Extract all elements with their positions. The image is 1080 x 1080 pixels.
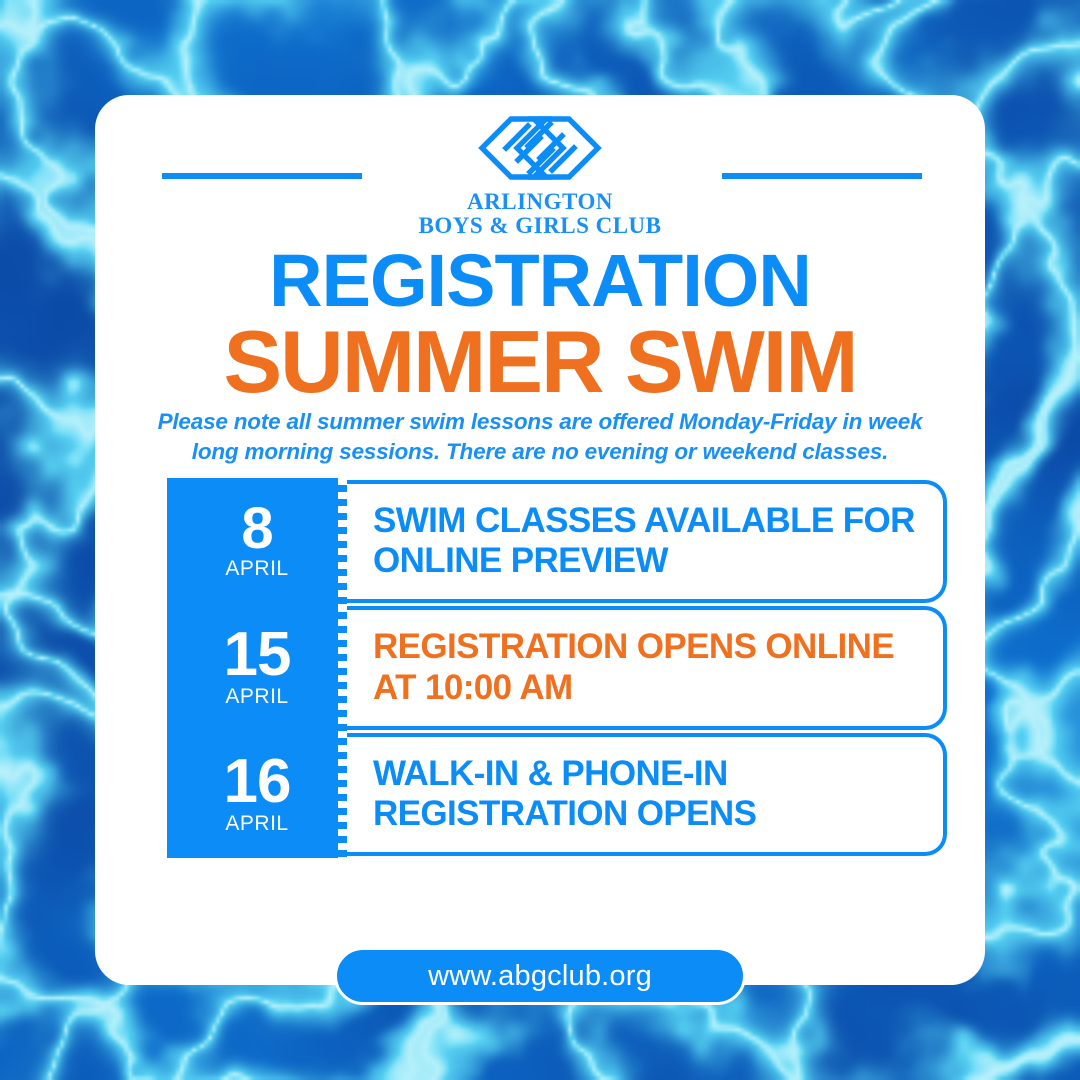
schedule-ticket: REGISTRATION OPENS ONLINE AT 10:00 AM (347, 606, 947, 730)
logo: ARLINGTON BOYS & GIRLS CLUB (0, 112, 1080, 239)
schedule-day-number: 16 (224, 753, 291, 810)
schedule-event-label: WALK-IN & PHONE-IN REGISTRATION OPENS (373, 754, 943, 835)
schedule-date-stub: 15APRIL (167, 605, 347, 732)
schedule-event-label: REGISTRATION OPENS ONLINE AT 10:00 AM (373, 627, 943, 708)
schedule-ticket: SWIM CLASSES AVAILABLE FOR ONLINE PREVIE… (347, 480, 947, 604)
schedule-date-stub: 16APRIL (167, 731, 347, 858)
schedule-date-stub: 8APRIL (167, 478, 347, 605)
schedule-row: 15APRILREGISTRATION OPENS ONLINE AT 10:0… (167, 605, 947, 732)
schedule-event-label: SWIM CLASSES AVAILABLE FOR ONLINE PREVIE… (373, 501, 943, 582)
heading-summer-swim: SUMMER SWIM (0, 318, 1080, 406)
schedule-month-label: APRIL (225, 812, 288, 836)
schedule-row: 8APRILSWIM CLASSES AVAILABLE FOR ONLINE … (167, 478, 947, 605)
perforation-edge (338, 605, 347, 732)
poster: ARLINGTON BOYS & GIRLS CLUB REGISTRATION… (0, 0, 1080, 1080)
logo-wordmark: ARLINGTON BOYS & GIRLS CLUB (418, 190, 661, 239)
schedule-day-number: 15 (224, 626, 291, 683)
perforation-edge (338, 478, 347, 605)
perforation-edge (338, 731, 347, 858)
logo-line-1: ARLINGTON (418, 190, 661, 214)
schedule-note: Please note all summer swim lessons are … (150, 407, 930, 467)
schedule-month-label: APRIL (225, 685, 288, 709)
heading-registration: REGISTRATION (0, 244, 1080, 318)
website-url-button[interactable]: www.abgclub.org (334, 947, 746, 1005)
schedule-row: 16APRILWALK-IN & PHONE-IN REGISTRATION O… (167, 731, 947, 858)
schedule-month-label: APRIL (225, 557, 288, 581)
website-url-label: www.abgclub.org (428, 960, 652, 993)
boys-girls-club-logo-mark (476, 112, 604, 184)
schedule-ticket: WALK-IN & PHONE-IN REGISTRATION OPENS (347, 733, 947, 857)
schedule-day-number: 8 (241, 502, 272, 555)
logo-line-2: BOYS & GIRLS CLUB (418, 214, 661, 238)
schedule-list: 8APRILSWIM CLASSES AVAILABLE FOR ONLINE … (167, 478, 947, 858)
